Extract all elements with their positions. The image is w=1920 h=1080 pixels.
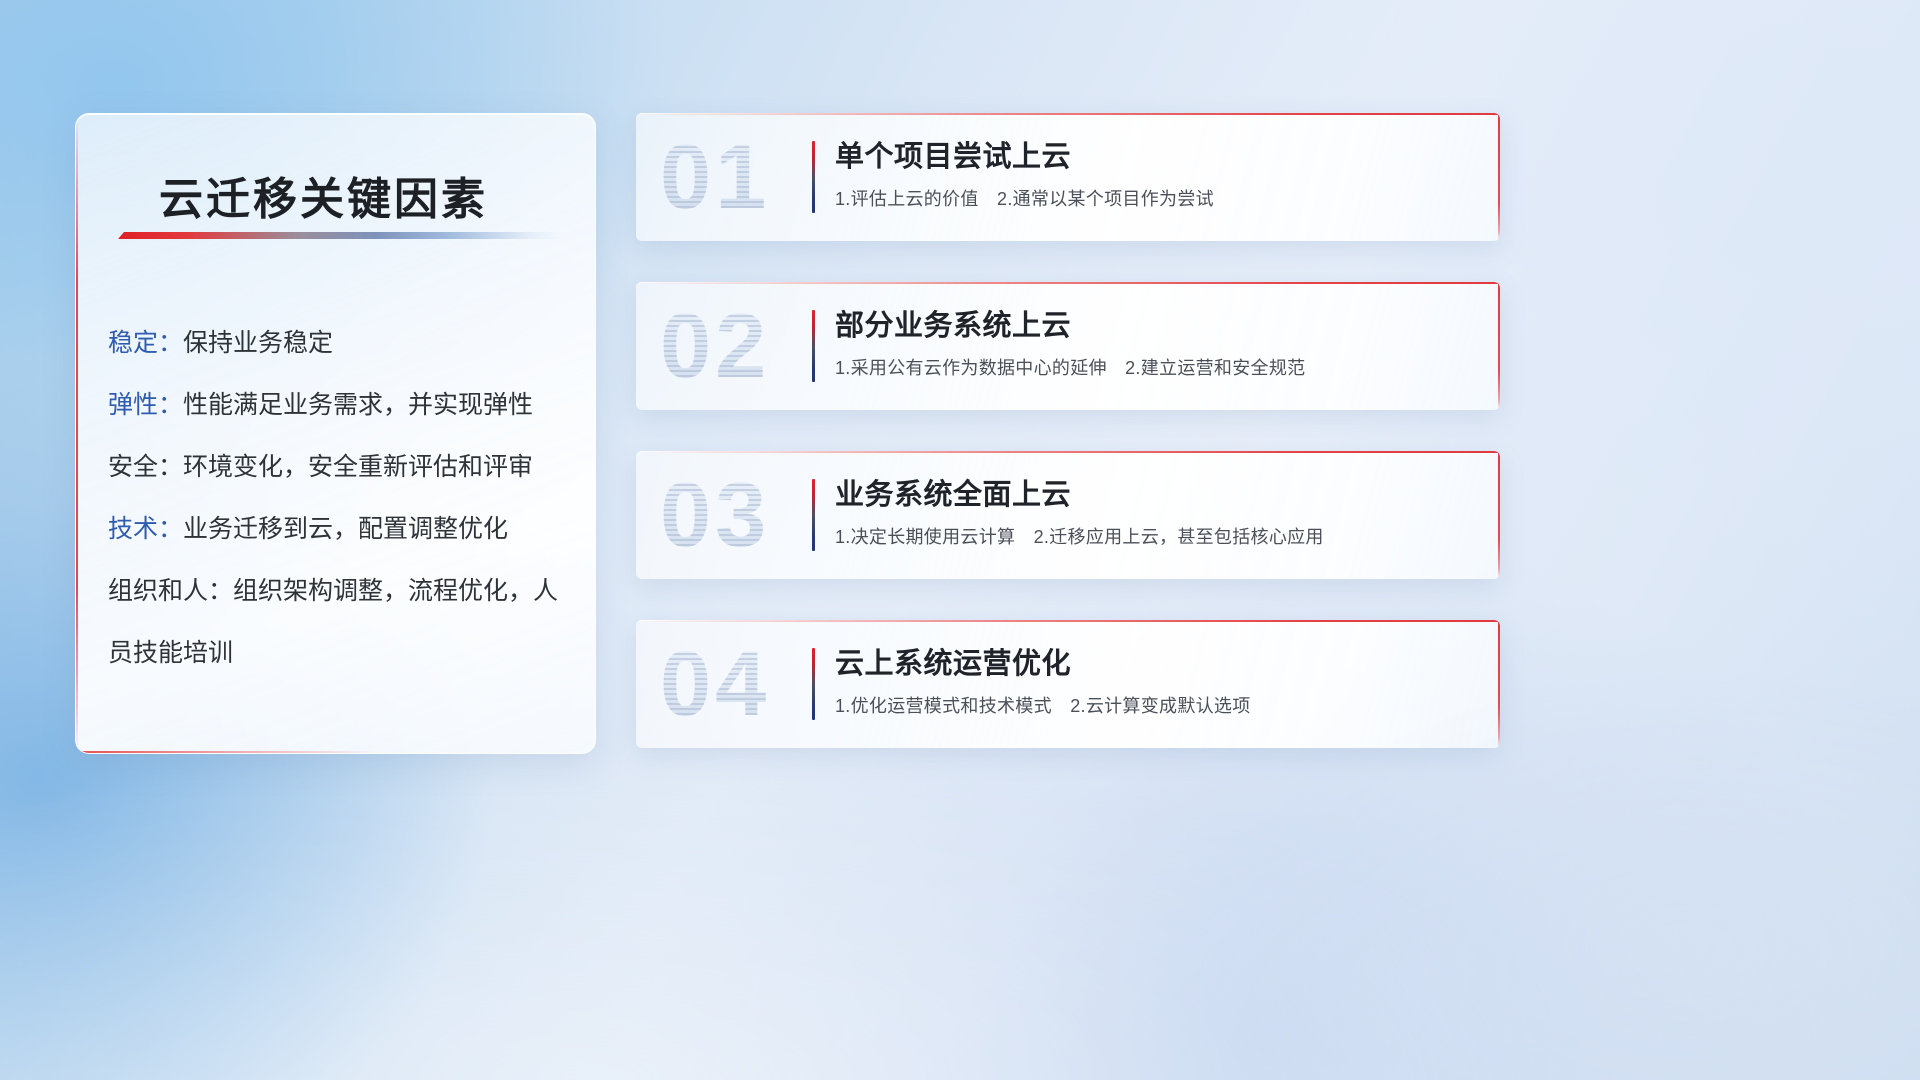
stage-card-03[interactable]: 03 业务系统全面上云 1.决定长期使用云计算 2.迁移应用上云，甚至包括核心应… <box>636 451 1500 579</box>
stage-title: 部分业务系统上云 <box>835 304 1472 348</box>
stage-title: 云上系统运营优化 <box>835 642 1472 686</box>
list-item: 安全：环境变化，安全重新评估和评审 <box>108 436 571 498</box>
page-title: 云迁移关键因素 <box>159 163 488 227</box>
stage-content: 单个项目尝试上云 1.评估上云的价值 2.通常以某个项目作为尝试 <box>835 135 1472 213</box>
stage-number: 02 <box>660 300 770 392</box>
title-underline-accent <box>118 232 562 239</box>
stage-card-02[interactable]: 02 部分业务系统上云 1.采用公有云作为数据中心的延伸 2.建立运营和安全规范 <box>636 282 1500 410</box>
stage-number: 03 <box>660 469 770 561</box>
migration-stage-list: 01 单个项目尝试上云 1.评估上云的价值 2.通常以某个项目作为尝试 02 部… <box>636 113 1500 748</box>
stage-divider-accent <box>812 648 815 720</box>
factor-label: 弹性： <box>108 391 183 419</box>
factor-text: 环境变化，安全重新评估和评审 <box>183 453 533 481</box>
stage-divider-accent <box>812 141 815 213</box>
factor-list: 稳定：保持业务稳定 弹性：性能满足业务需求，并实现弹性 安全：环境变化，安全重新… <box>108 312 571 684</box>
stage-divider-accent <box>812 310 815 382</box>
stage-description: 1.采用公有云作为数据中心的延伸 2.建立运营和安全规范 <box>835 354 1472 382</box>
factor-label: 稳定： <box>108 329 183 357</box>
factor-text: 业务迁移到云，配置调整优化 <box>183 515 508 543</box>
key-factors-panel: 云迁移关键因素 稳定：保持业务稳定 弹性：性能满足业务需求，并实现弹性 安全：环… <box>75 113 596 754</box>
factor-text: 性能满足业务需求，并实现弹性 <box>183 391 533 419</box>
list-item: 技术：业务迁移到云，配置调整优化 <box>108 498 571 560</box>
stage-description: 1.评估上云的价值 2.通常以某个项目作为尝试 <box>835 185 1472 213</box>
factor-text: 保持业务稳定 <box>183 329 333 357</box>
stage-content: 部分业务系统上云 1.采用公有云作为数据中心的延伸 2.建立运营和安全规范 <box>835 304 1472 382</box>
stage-card-01[interactable]: 01 单个项目尝试上云 1.评估上云的价值 2.通常以某个项目作为尝试 <box>636 113 1500 241</box>
list-item: 弹性：性能满足业务需求，并实现弹性 <box>108 374 571 436</box>
stage-content: 云上系统运营优化 1.优化运营模式和技术模式 2.云计算变成默认选项 <box>835 642 1472 720</box>
stage-number: 01 <box>660 131 770 223</box>
stage-title: 单个项目尝试上云 <box>835 135 1472 179</box>
list-item: 稳定：保持业务稳定 <box>108 312 571 374</box>
factor-label: 安全： <box>108 453 183 481</box>
stage-divider-accent <box>812 479 815 551</box>
stage-title: 业务系统全面上云 <box>835 473 1472 517</box>
factor-label: 组织和人： <box>108 577 233 605</box>
stage-number: 04 <box>660 638 770 730</box>
slide-canvas: 云迁移关键因素 稳定：保持业务稳定 弹性：性能满足业务需求，并实现弹性 安全：环… <box>0 0 1920 1080</box>
stage-content: 业务系统全面上云 1.决定长期使用云计算 2.迁移应用上云，甚至包括核心应用 <box>835 473 1472 551</box>
stage-card-04[interactable]: 04 云上系统运营优化 1.优化运营模式和技术模式 2.云计算变成默认选项 <box>636 620 1500 748</box>
stage-description: 1.优化运营模式和技术模式 2.云计算变成默认选项 <box>835 692 1472 720</box>
stage-description: 1.决定长期使用云计算 2.迁移应用上云，甚至包括核心应用 <box>835 523 1472 551</box>
list-item: 组织和人：组织架构调整，流程优化，人员技能培训 <box>108 560 571 684</box>
factor-label: 技术： <box>108 515 183 543</box>
